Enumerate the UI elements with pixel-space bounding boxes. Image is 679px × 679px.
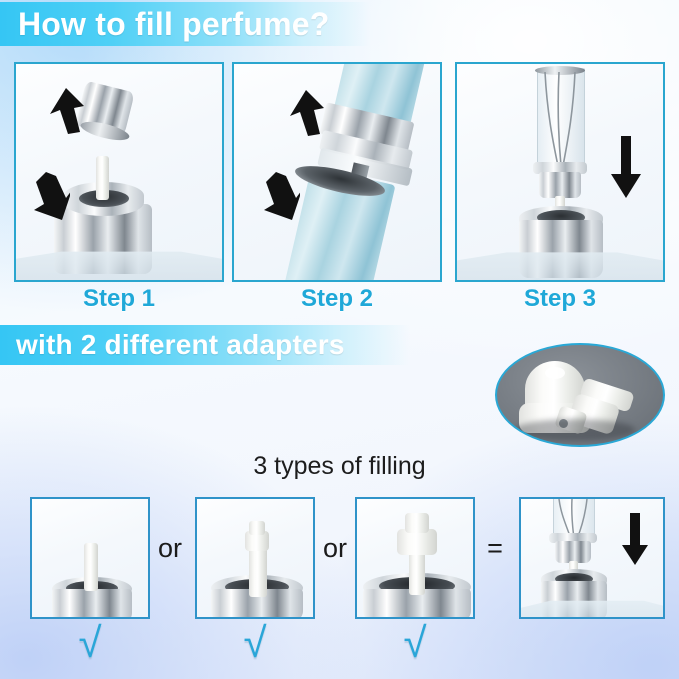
connector-equals: = [475, 533, 515, 564]
filling-option-1-frame [30, 497, 150, 619]
down-arrow-icon [258, 172, 300, 220]
filling-result-frame [519, 497, 665, 619]
up-arrow-icon [286, 90, 326, 136]
bare-nozzle [84, 543, 98, 591]
atomizer-head-body [539, 172, 581, 198]
filling-option-2-illustration [197, 499, 313, 617]
step-2-photo-frame [232, 62, 442, 282]
dome-adapter-highlight [545, 367, 565, 379]
small-adapter-tip [249, 521, 265, 535]
step-2-illustration [234, 64, 440, 280]
check-mark-option-2: √ [225, 622, 285, 664]
down-arrow-icon [609, 136, 643, 198]
adapters-banner-label: with 2 different adapters [16, 329, 345, 361]
filling-heading: 3 types of filling [0, 452, 679, 481]
filling-option-3-frame [355, 497, 475, 619]
infographic-canvas: How to fill perfume? [0, 0, 679, 679]
dip-tubes-icon [535, 72, 587, 168]
up-arrow-icon [46, 88, 86, 134]
check-mark-option-1: √ [60, 622, 120, 664]
adapters-photo-oval [495, 343, 665, 447]
connector-or-2: or [315, 533, 355, 564]
step-3-illustration [457, 64, 663, 280]
glass-bottle-shoulder [455, 250, 665, 282]
connector-or-1: or [150, 533, 190, 564]
filling-option-1-illustration [32, 499, 148, 617]
filling-result-illustration [521, 499, 663, 617]
adapters-banner: with 2 different adapters [0, 325, 410, 365]
white-nozzle [96, 156, 109, 200]
down-arrow-icon [621, 513, 649, 565]
check-mark-option-3: √ [385, 622, 445, 664]
step-2-caption: Step 2 [232, 285, 442, 313]
step-3-photo-frame [455, 62, 665, 282]
down-arrow-icon [28, 172, 70, 220]
page-title: How to fill perfume? [18, 6, 330, 43]
bottle-collar-body [52, 589, 132, 619]
title-banner: How to fill perfume? [0, 2, 370, 46]
step-1-photo-frame [14, 62, 224, 282]
filling-option-2-frame [195, 497, 315, 619]
step-1-illustration [16, 64, 222, 280]
atomizer-head-body [555, 541, 591, 563]
step-1-caption: Step 1 [14, 285, 224, 313]
nozzle-shaft [249, 547, 267, 597]
step-3-caption: Step 3 [455, 285, 665, 313]
nozzle-shaft [409, 549, 425, 595]
adapters-shadow [515, 419, 635, 441]
filling-option-3-illustration [357, 499, 473, 617]
glass-bottle-shoulder [14, 250, 224, 282]
large-adapter-tip [405, 513, 429, 533]
